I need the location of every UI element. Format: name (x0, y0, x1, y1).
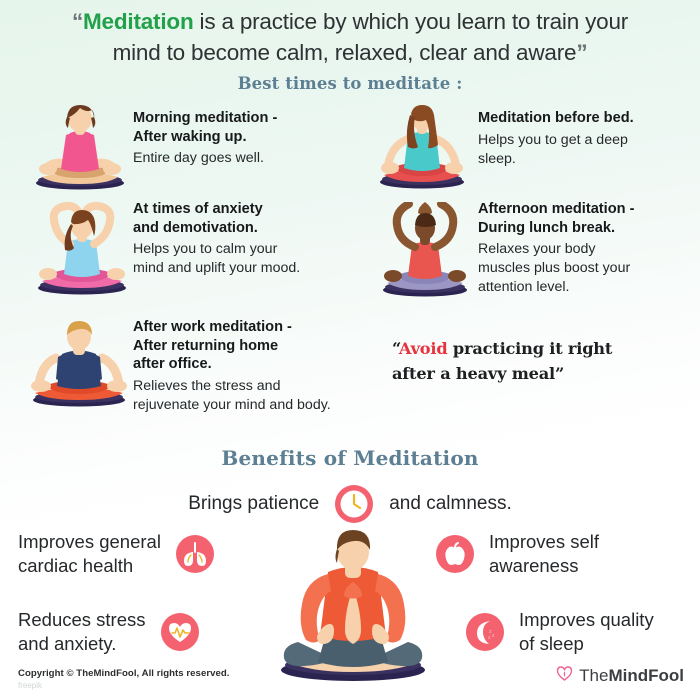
best-time-text-afternoon: Afternoon meditation - During lunch brea… (478, 200, 698, 297)
brand-name-light: The (579, 666, 608, 685)
avoid-note: “Avoid practicing it right after a heavy… (392, 336, 692, 386)
benefits-title: Benefits of Meditation (0, 446, 700, 470)
heart-pulse-icon (159, 611, 201, 653)
figure-woman-arms-overhead (30, 200, 134, 301)
benefit-patience-row: Brings patience and calmness. (0, 483, 700, 525)
infographic-poster: “Meditation is a practice by which you l… (0, 0, 700, 700)
best-time-text-after-work: After work meditation - After returning … (133, 318, 398, 415)
best-time-heading-morning: Morning meditation - After waking up. (133, 109, 373, 146)
benefit-patience-text-before: Brings patience (188, 493, 319, 515)
best-time-text-morning: Morning meditation - After waking up. En… (133, 109, 373, 168)
best-time-heading-afternoon: Afternoon meditation - During lunch brea… (478, 200, 698, 237)
figure-woman-teal-top (372, 105, 472, 196)
figure-woman-prayer-overhead (375, 202, 475, 303)
best-times-subheading: Best times to meditate : (0, 74, 700, 93)
best-time-text-anxiety: At times of anxiety and demotivation. He… (133, 200, 383, 278)
attribution-text: freepik (18, 681, 42, 690)
hero-quote: “Meditation is a practice by which you l… (0, 6, 700, 68)
benefit-self-awareness-label: Improves self awareness (489, 530, 599, 578)
avoid-note-line-1: “Avoid practicing it right (392, 336, 692, 361)
best-time-heading-before-bed: Meditation before bed. (478, 109, 693, 128)
best-time-body-anxiety: Helps you to calm your mind and uplift y… (133, 240, 383, 278)
avoid-line-2-text: after a heavy meal (392, 364, 555, 383)
best-time-body-afternoon: Relaxes your body muscles plus boost you… (478, 240, 698, 297)
quote-open-glyph: “ (72, 9, 83, 34)
copyright-text: Copyright © TheMindFool, All rights rese… (18, 668, 230, 679)
avoid-line-1-rest: practicing it right (447, 339, 612, 358)
figure-man-navy-shirt (24, 316, 134, 413)
clock-icon (333, 483, 375, 525)
lungs-icon (174, 533, 216, 575)
benefit-stress-label: Reduces stress and anxiety. (18, 608, 146, 656)
apple-icon (434, 533, 476, 575)
hero-line-2: mind to become calm, relaxed, clear and … (22, 37, 678, 68)
benefit-sleep-label: Improves quality of sleep (519, 608, 654, 656)
best-time-body-before-bed: Helps you to get a deep sleep. (478, 131, 693, 169)
avoid-quote-close: ” (555, 364, 564, 383)
avoid-warn-word: Avoid (399, 339, 448, 358)
brand-logo[interactable]: TheMindFool (556, 665, 684, 687)
hero-line-1: “Meditation is a practice by which you l… (22, 6, 678, 37)
best-time-body-after-work: Relieves the stress and rejuvenate your … (133, 377, 398, 415)
brand-name: TheMindFool (579, 666, 684, 686)
benefit-cardiac: Improves general cardiac health (18, 530, 268, 578)
benefit-sleep: z z z Improves quality of sleep (464, 608, 700, 656)
avoid-quote-open: “ (392, 339, 399, 358)
hero-highlight-word: Meditation (83, 9, 194, 34)
lotus-heart-icon (556, 665, 573, 687)
figure-man-orange-prayer-center (268, 522, 438, 687)
moon-sleep-icon: z z z (464, 611, 506, 653)
brand-name-bold: MindFool (608, 666, 684, 685)
best-time-body-morning: Entire day goes well. (133, 149, 373, 168)
avoid-note-line-2: after a heavy meal” (392, 361, 692, 386)
hero-line-2-text: mind to become calm, relaxed, clear and … (113, 40, 577, 65)
best-time-text-before-bed: Meditation before bed. Helps you to get … (478, 109, 693, 169)
quote-close-glyph: ” (576, 40, 587, 65)
benefit-self-awareness: Improves self awareness (434, 530, 684, 578)
benefit-stress: Reduces stress and anxiety. (18, 608, 268, 656)
benefit-cardiac-label: Improves general cardiac health (18, 530, 161, 578)
figure-woman-pink-top (28, 105, 132, 196)
best-time-heading-after-work: After work meditation - After returning … (133, 318, 398, 374)
hero-line-1-rest: is a practice by which you learn to trai… (194, 9, 629, 34)
benefit-patience-text-after: and calmness. (389, 493, 512, 515)
best-time-heading-anxiety: At times of anxiety and demotivation. (133, 200, 383, 237)
